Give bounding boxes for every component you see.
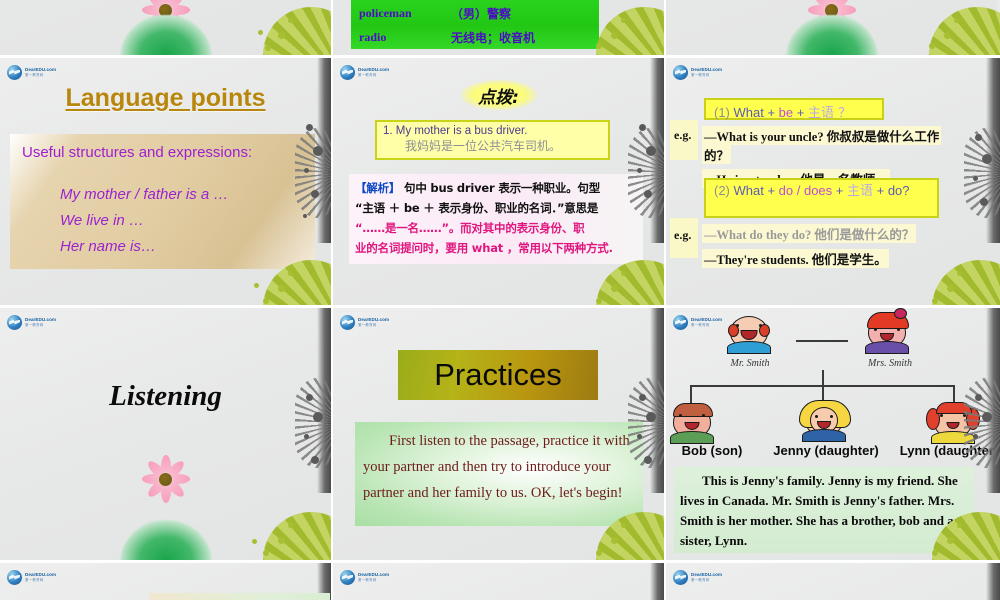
sentence-chinese: 我妈妈是一位公共汽车司机。 [383, 137, 602, 154]
dearedu-logo: DearEDU.com 第一教育网 [7, 64, 63, 80]
vocab-chinese: （男）警察 [451, 5, 511, 22]
slide-thumbnail-partial-top-right[interactable] [666, 0, 1000, 55]
analysis-line-1b: bus driver [430, 181, 494, 195]
rule1-be: be [779, 105, 793, 120]
slide-thumbnail-listening[interactable]: DearEDU.com 第一教育网 Listening [0, 308, 331, 560]
dearedu-logo: DearEDU.com 第一教育网 [7, 314, 63, 330]
tree-connector-left [690, 385, 692, 403]
slide-thumbnail-partial-bottom-left[interactable]: DearEDU.com 第一教育网 [0, 563, 331, 600]
analysis-line-3: “……是一名……”。而对其中的表示身份、职 [355, 221, 584, 235]
practices-body-text: First listen to the passage, practice it… [363, 428, 635, 506]
tree-connector-right [953, 385, 955, 403]
vocab-english: radio [359, 30, 451, 45]
slide-thumbnail-practices[interactable]: DearEDU.com 第一教育网 Practices First listen… [333, 308, 664, 560]
bob-avatar [669, 404, 715, 444]
analysis-line-4: 业的名词提问时，要用 what ，常用以下两种方式. [355, 241, 613, 255]
rule2-do-does: do / does [779, 183, 833, 198]
slide-thumbnail-partial-bottom-right[interactable]: DearEDU.com 第一教育网 [666, 563, 1000, 600]
slide-thumbnail-what-be-structures[interactable]: DearEDU.com 第一教育网 (1) What + be + 主语 ？ e… [666, 58, 1000, 305]
lynn-avatar [930, 404, 976, 444]
dearedu-logo: DearEDU.com 第一教育网 [673, 569, 729, 585]
eg-label: e.g. [674, 228, 691, 243]
eg1-question-line2: 的？ [702, 145, 731, 164]
eg2-answer: —They're students. 他们是学生。 [702, 249, 889, 268]
father-avatar [726, 314, 772, 354]
rule1-plus: + [793, 105, 808, 120]
analysis-tag: 【解析】 [355, 181, 400, 195]
useful-structures-heading: Useful structures and expressions: [22, 144, 252, 161]
rule1-number: (1) [714, 105, 730, 120]
lynn-label: Lynn (daughter) [894, 443, 1000, 458]
logo-globe-icon [340, 65, 355, 80]
family-passage-box: This is Jenny's family. Jenny is my frie… [674, 467, 974, 553]
logo-globe-icon [7, 315, 22, 330]
dearedu-logo: DearEDU.com 第一教育网 [340, 314, 396, 330]
slide-thumbnail-family-tree[interactable]: DearEDU.com 第一教育网 Mr. Smith [666, 308, 1000, 560]
vocab-english: policeman [359, 6, 451, 21]
rule2-tail: + do? [873, 183, 910, 198]
jenny-avatar [801, 402, 847, 442]
page-title: Listening [0, 380, 331, 413]
logo-text-primary: DearEDU.com [691, 572, 722, 577]
mother-label: Mrs. Smith [842, 358, 938, 369]
jenny-label: Jenny (daughter) [766, 443, 886, 458]
vocab-chinese: 无线电；收音机 [451, 29, 535, 46]
logo-text-primary: DearEDU.com [358, 572, 389, 577]
table-row: radio 无线电；收音机 [359, 25, 591, 49]
rule1-subject: 主语 [808, 106, 834, 121]
structure-line: Her name is… [60, 234, 228, 260]
structure-line: My mother / father is a … [60, 182, 228, 208]
analysis-line-2: “主语 ＋ be ＋ 表示身份、职业的名词．”意思是 [355, 201, 598, 215]
logo-globe-icon [7, 65, 22, 80]
logo-text-secondary: 第一教育网 [358, 578, 389, 582]
rule2-number: (2) [714, 183, 730, 198]
logo-text-primary: DearEDU.com [358, 317, 389, 322]
dianbo-title: 点拨: [461, 80, 537, 110]
rule2-what: What + [730, 183, 779, 198]
analysis-line-1a: 句中 [404, 181, 430, 195]
eg-label: e.g. [674, 128, 691, 143]
flower-decoration [137, 454, 195, 504]
sentence-english: My mother is a bus driver. [396, 125, 528, 137]
dearedu-logo: DearEDU.com 第一教育网 [673, 64, 729, 80]
logo-globe-icon [673, 65, 688, 80]
marriage-line [796, 340, 848, 342]
structure-rule-1: (1) What + be + 主语 ？ [704, 98, 884, 120]
eg1-question-line1: —What is your uncle? 你叔叔是做什么工作 [702, 126, 941, 145]
slide-thumbnail-dianbo[interactable]: DearEDU.com 第一教育网 点拨: 1. My mother is a … [333, 58, 664, 305]
logo-globe-icon [340, 570, 355, 585]
structure-rule-2: (2) What + do / does + 主语 + do? [704, 178, 939, 218]
logo-text-secondary: 第一教育网 [691, 578, 722, 582]
logo-text-primary: DearEDU.com [25, 572, 56, 577]
logo-text-secondary: 第一教育网 [25, 73, 56, 77]
eg2-question: —What do they do? 他们是做什么的？ [702, 224, 916, 243]
practices-instruction-box: First listen to the passage, practice it… [355, 422, 643, 526]
example-sentence-box: 1. My mother is a bus driver. 我妈妈是一位公共汽车… [375, 120, 610, 160]
slide-thumbnail-partial-top-left[interactable] [0, 0, 331, 55]
page-title: Language points [0, 84, 331, 113]
rule1-what: What + [730, 105, 779, 120]
table-row: policeman （男）警察 [359, 1, 591, 25]
logo-text-primary: DearEDU.com [358, 67, 389, 72]
family-passage-text: This is Jenny's family. Jenny is my frie… [680, 471, 968, 551]
useful-structures-box: Useful structures and expressions: My mo… [10, 134, 315, 269]
logo-text-secondary: 第一教育网 [25, 323, 56, 327]
logo-globe-icon [7, 570, 22, 585]
logo-text-primary: DearEDU.com [25, 317, 56, 322]
logo-text-secondary: 第一教育网 [691, 73, 722, 77]
logo-text-secondary: 第一教育网 [25, 578, 56, 582]
slide-thumbnail-language-points[interactable]: DearEDU.com 第一教育网 Language points Useful… [0, 58, 331, 305]
dearedu-logo: DearEDU.com 第一教育网 [340, 569, 396, 585]
rule1-question-mark: ？ [834, 106, 851, 121]
bob-label: Bob (son) [666, 443, 758, 458]
slide-thumbnail-partial-bottom-middle[interactable]: DearEDU.com 第一教育网 [333, 563, 664, 600]
dearedu-logo: DearEDU.com 第一教育网 [340, 64, 396, 80]
logo-text-secondary: 第一教育网 [358, 73, 389, 77]
logo-text-primary: DearEDU.com [25, 67, 56, 72]
slide-thumbnail-vocabulary[interactable]: policeman （男）警察 radio 无线电；收音机 [333, 0, 664, 55]
vocabulary-table: policeman （男）警察 radio 无线电；收音机 [351, 0, 599, 49]
analysis-box: 【解析】 句中 bus driver 表示一种职业。句型 “主语 ＋ be ＋ … [349, 174, 643, 264]
mother-avatar [864, 314, 910, 354]
rule2-subject: 主语 [847, 184, 873, 199]
analysis-line-1c: 表示一种职业。句型 [495, 181, 601, 195]
sentence-number: 1. [383, 125, 393, 137]
logo-text-primary: DearEDU.com [691, 67, 722, 72]
page-title: Practices [398, 350, 598, 400]
dearedu-logo: DearEDU.com 第一教育网 [7, 569, 63, 585]
logo-text-secondary: 第一教育网 [358, 323, 389, 327]
father-label: Mr. Smith [702, 358, 798, 369]
structure-line: We live in … [60, 208, 228, 234]
logo-globe-icon [673, 570, 688, 585]
tree-connector-vertical-parent [822, 370, 824, 386]
logo-globe-icon [340, 315, 355, 330]
rule2-plus: + [832, 183, 847, 198]
slide-thumbnail-grid: policeman （男）警察 radio 无线电；收音机 [0, 0, 1000, 600]
